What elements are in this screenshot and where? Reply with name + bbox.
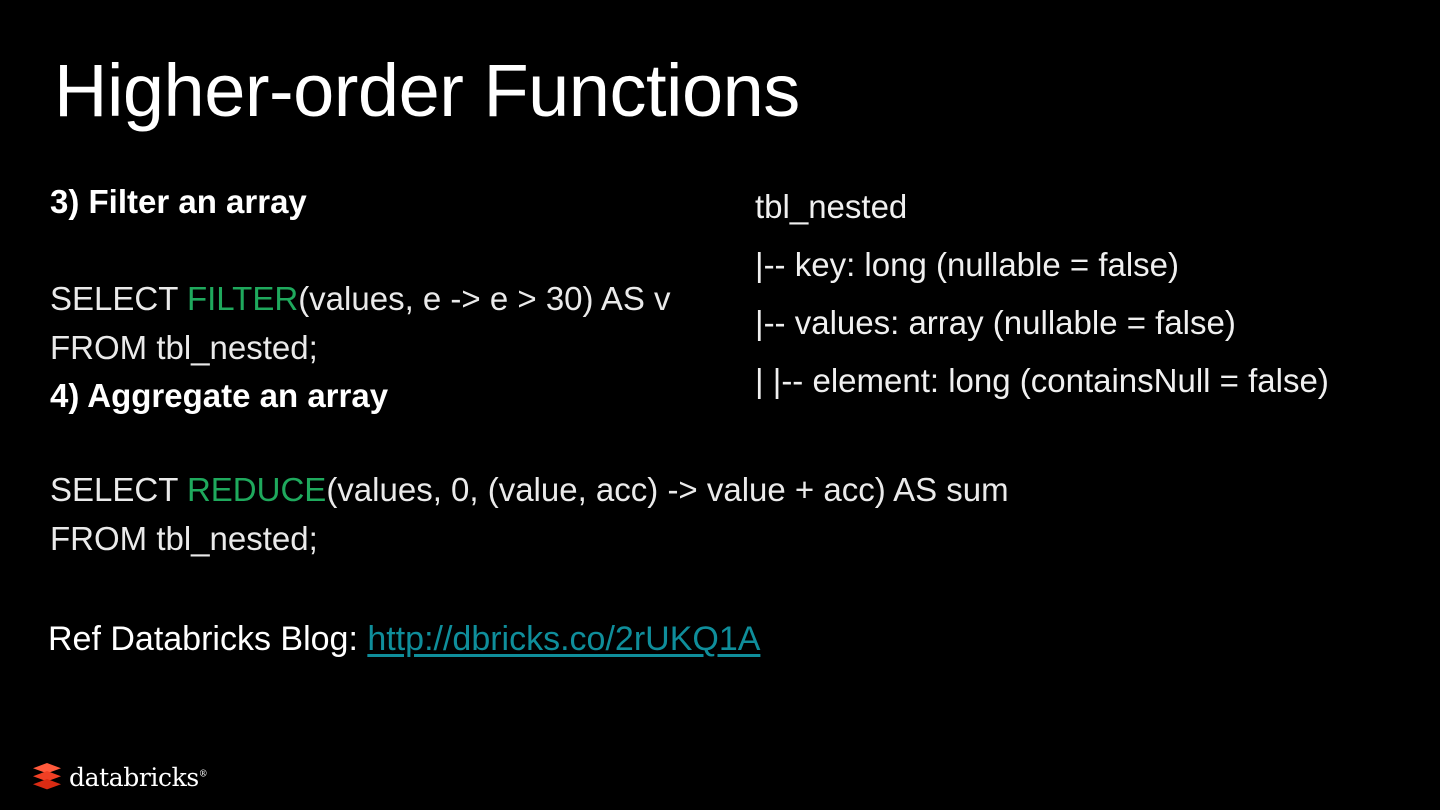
schema-field-element: | |-- element: long (containsNull = fals…	[755, 352, 1435, 410]
section-heading-aggregate: 4) Aggregate an array	[50, 372, 740, 420]
sql-reduce-function: REDUCE	[187, 471, 326, 508]
databricks-wordmark-text: databricks	[69, 763, 199, 792]
query-filter-line-2: FROM tbl_nested;	[50, 323, 740, 372]
schema-field-values: |-- values: array (nullable = false)	[755, 294, 1435, 352]
sql-filter-function: FILTER	[187, 280, 298, 317]
databricks-wordmark: databricks®	[69, 765, 207, 790]
page-title: Higher-order Functions	[54, 52, 800, 130]
reference-label: Ref Databricks Blog:	[48, 620, 367, 658]
spacer	[50, 226, 740, 274]
query-reduce-line-2: FROM tbl_nested;	[50, 514, 740, 563]
databricks-logo-icon	[32, 762, 62, 790]
reference-line: Ref Databricks Blog: http://dbricks.co/2…	[48, 620, 760, 659]
sql-select-keyword: SELECT	[50, 280, 187, 317]
spacer	[50, 420, 740, 465]
sql-filter-args: (values, e -> e > 30) AS v	[298, 280, 670, 317]
schema-field-key: |-- key: long (nullable = false)	[755, 236, 1435, 294]
right-column-schema: tbl_nested |-- key: long (nullable = fal…	[755, 178, 1435, 410]
query-reduce-line-1: SELECT REDUCE(values, 0, (value, acc) ->…	[50, 465, 740, 514]
section-heading-filter: 3) Filter an array	[50, 178, 740, 226]
left-column: 3) Filter an array SELECT FILTER(values,…	[50, 178, 740, 563]
schema-table-name: tbl_nested	[755, 178, 1435, 236]
reference-url-link[interactable]: http://dbricks.co/2rUKQ1A	[367, 620, 760, 658]
slide-root: Higher-order Functions 3) Filter an arra…	[0, 0, 1440, 810]
sql-select-keyword: SELECT	[50, 471, 187, 508]
sql-reduce-args: (values, 0, (value, acc) -> value + acc)…	[326, 471, 1008, 508]
query-filter-line-1: SELECT FILTER(values, e -> e > 30) AS v	[50, 274, 740, 323]
databricks-logo: databricks®	[32, 762, 207, 790]
trademark-icon: ®	[199, 769, 208, 779]
